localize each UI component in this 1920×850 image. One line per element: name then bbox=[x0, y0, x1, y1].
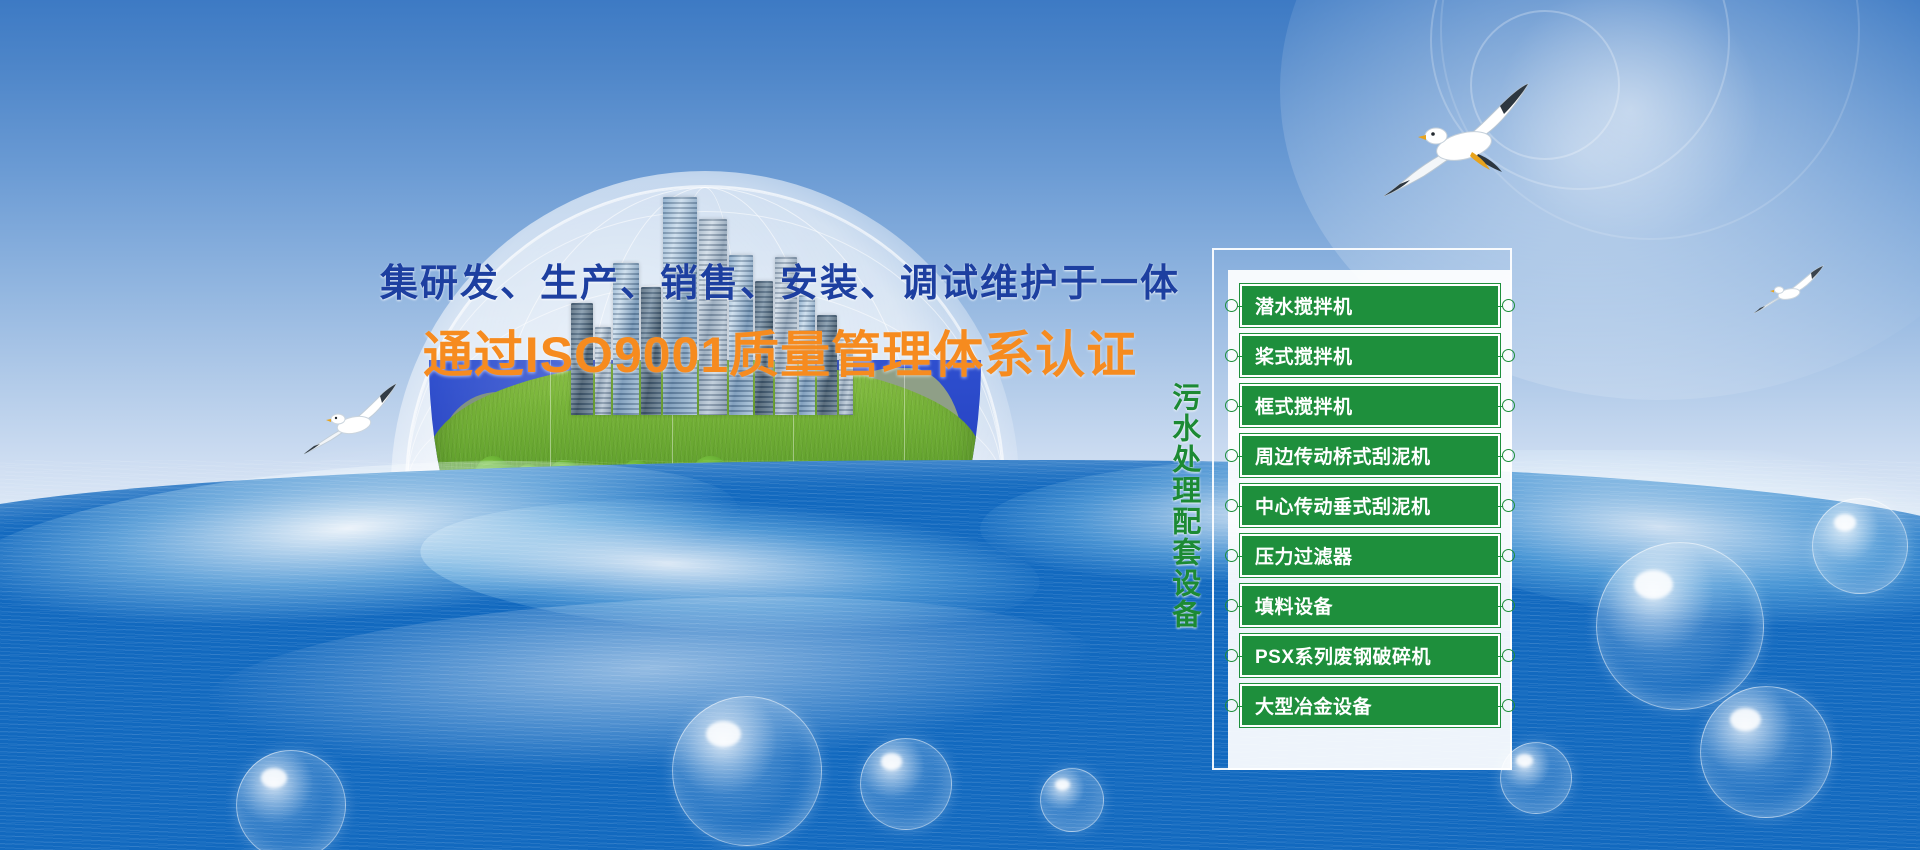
product-item[interactable]: PSX系列废钢破碎机 bbox=[1240, 634, 1500, 677]
headline-primary: 集研发、生产、销售、安装、调试维护于一体 bbox=[380, 252, 1180, 307]
sky-glow-secondary bbox=[1480, 0, 1780, 260]
product-item[interactable]: 压力过滤器 bbox=[1240, 534, 1500, 577]
product-item-label: 桨式搅拌机 bbox=[1255, 342, 1353, 369]
seagull-small-right bbox=[1752, 262, 1830, 321]
ribbon-notch-left-icon bbox=[1225, 699, 1238, 712]
product-item-label: 大型冶金设备 bbox=[1255, 692, 1372, 719]
product-item-label: 填料设备 bbox=[1255, 592, 1333, 619]
product-item[interactable]: 周边传动桥式刮泥机 bbox=[1240, 434, 1500, 477]
banner-root: 集研发、生产、销售、安装、调试维护于一体 通过ISO9001质量管理体系认证 污… bbox=[0, 0, 1920, 850]
ribbon-notch-right-icon bbox=[1502, 449, 1515, 462]
product-item-label: PSX系列废钢破碎机 bbox=[1255, 642, 1431, 669]
product-item-label: 压力过滤器 bbox=[1255, 542, 1353, 569]
ribbon-notch-right-icon bbox=[1502, 399, 1515, 412]
product-item[interactable]: 框式搅拌机 bbox=[1240, 384, 1500, 427]
product-item-label: 中心传动垂式刮泥机 bbox=[1255, 492, 1431, 519]
water-front-layer bbox=[0, 460, 1920, 850]
ribbon-notch-left-icon bbox=[1225, 499, 1238, 512]
product-item-label: 框式搅拌机 bbox=[1255, 392, 1353, 419]
product-item[interactable]: 大型冶金设备 bbox=[1240, 684, 1500, 727]
product-item[interactable]: 中心传动垂式刮泥机 bbox=[1240, 484, 1500, 527]
product-item-label: 周边传动桥式刮泥机 bbox=[1255, 442, 1431, 469]
product-item[interactable]: 填料设备 bbox=[1240, 584, 1500, 627]
product-item-label: 潜水搅拌机 bbox=[1255, 292, 1353, 319]
lens-flare-ring-2 bbox=[1440, 0, 1860, 240]
product-item[interactable]: 潜水搅拌机 bbox=[1240, 284, 1500, 327]
ribbon-notch-left-icon bbox=[1225, 449, 1238, 462]
lens-flare-ring-3 bbox=[1470, 10, 1620, 160]
water-wave-graphic bbox=[0, 450, 1920, 850]
ribbon-notch-left-icon bbox=[1225, 399, 1238, 412]
seagull-large bbox=[1360, 62, 1560, 217]
ribbon-notch-left-icon bbox=[1225, 349, 1238, 362]
product-panel: 潜水搅拌机桨式搅拌机框式搅拌机周边传动桥式刮泥机中心传动垂式刮泥机压力过滤器填料… bbox=[1228, 270, 1512, 770]
ribbon-notch-left-icon bbox=[1225, 299, 1238, 312]
ribbon-notch-right-icon bbox=[1502, 549, 1515, 562]
headline-secondary: 通过ISO9001质量管理体系认证 bbox=[380, 315, 1180, 387]
product-item[interactable]: 桨式搅拌机 bbox=[1240, 334, 1500, 377]
product-category-label: 污水处理配套设备 bbox=[1168, 382, 1199, 630]
ribbon-notch-right-icon bbox=[1502, 649, 1515, 662]
lens-flare-ring-1 bbox=[1430, 0, 1730, 190]
ribbon-notch-right-icon bbox=[1502, 599, 1515, 612]
headline-block: 集研发、生产、销售、安装、调试维护于一体 通过ISO9001质量管理体系认证 bbox=[380, 252, 1180, 387]
ribbon-notch-left-icon bbox=[1225, 599, 1238, 612]
ribbon-notch-left-icon bbox=[1225, 649, 1238, 662]
ribbon-notch-right-icon bbox=[1502, 699, 1515, 712]
product-list: 潜水搅拌机桨式搅拌机框式搅拌机周边传动桥式刮泥机中心传动垂式刮泥机压力过滤器填料… bbox=[1240, 284, 1500, 727]
ribbon-notch-right-icon bbox=[1502, 299, 1515, 312]
ribbon-notch-left-icon bbox=[1225, 549, 1238, 562]
ribbon-notch-right-icon bbox=[1502, 349, 1515, 362]
ribbon-notch-right-icon bbox=[1502, 499, 1515, 512]
